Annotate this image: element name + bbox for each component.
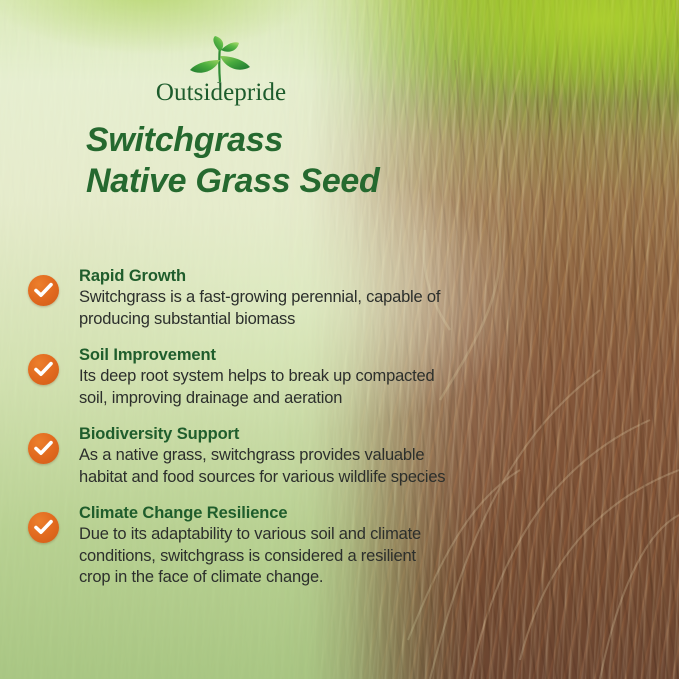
check-circle-icon (28, 275, 59, 306)
feature-body: Due to its adaptability to various soil … (79, 524, 448, 589)
feature-text: Soil Improvement Its deep root system he… (79, 345, 448, 409)
poster-content: Outsidepride Switchgrass Native Grass Se… (0, 0, 679, 679)
list-item: Climate Change Resilience Due to its ada… (28, 503, 448, 589)
feature-text: Rapid Growth Switchgrass is a fast-growi… (79, 266, 448, 330)
brand-name: Outsidepride (126, 80, 316, 106)
feature-body: Its deep root system helps to break up c… (79, 366, 448, 409)
check-circle-icon (28, 354, 59, 385)
title-line-2: Native Grass Seed (86, 161, 446, 202)
check-circle-icon (28, 512, 59, 543)
list-item: Soil Improvement Its deep root system he… (28, 345, 448, 409)
title-line-1: Switchgrass (86, 120, 446, 161)
feature-heading: Climate Change Resilience (79, 503, 448, 524)
feature-heading: Rapid Growth (79, 266, 448, 287)
product-infographic: Outsidepride Switchgrass Native Grass Se… (0, 0, 679, 679)
list-item: Biodiversity Support As a native grass, … (28, 424, 448, 488)
feature-text: Climate Change Resilience Due to its ada… (79, 503, 448, 589)
page-title: Switchgrass Native Grass Seed (86, 120, 446, 202)
list-item: Rapid Growth Switchgrass is a fast-growi… (28, 266, 448, 330)
feature-body: Switchgrass is a fast-growing perennial,… (79, 287, 448, 330)
sprout-leaves-icon (182, 36, 258, 82)
brand-logo: Outsidepride (126, 36, 316, 106)
check-circle-icon (28, 433, 59, 464)
feature-heading: Biodiversity Support (79, 424, 448, 445)
feature-list: Rapid Growth Switchgrass is a fast-growi… (28, 266, 448, 589)
feature-body: As a native grass, switchgrass provides … (79, 445, 448, 488)
feature-heading: Soil Improvement (79, 345, 448, 366)
feature-text: Biodiversity Support As a native grass, … (79, 424, 448, 488)
